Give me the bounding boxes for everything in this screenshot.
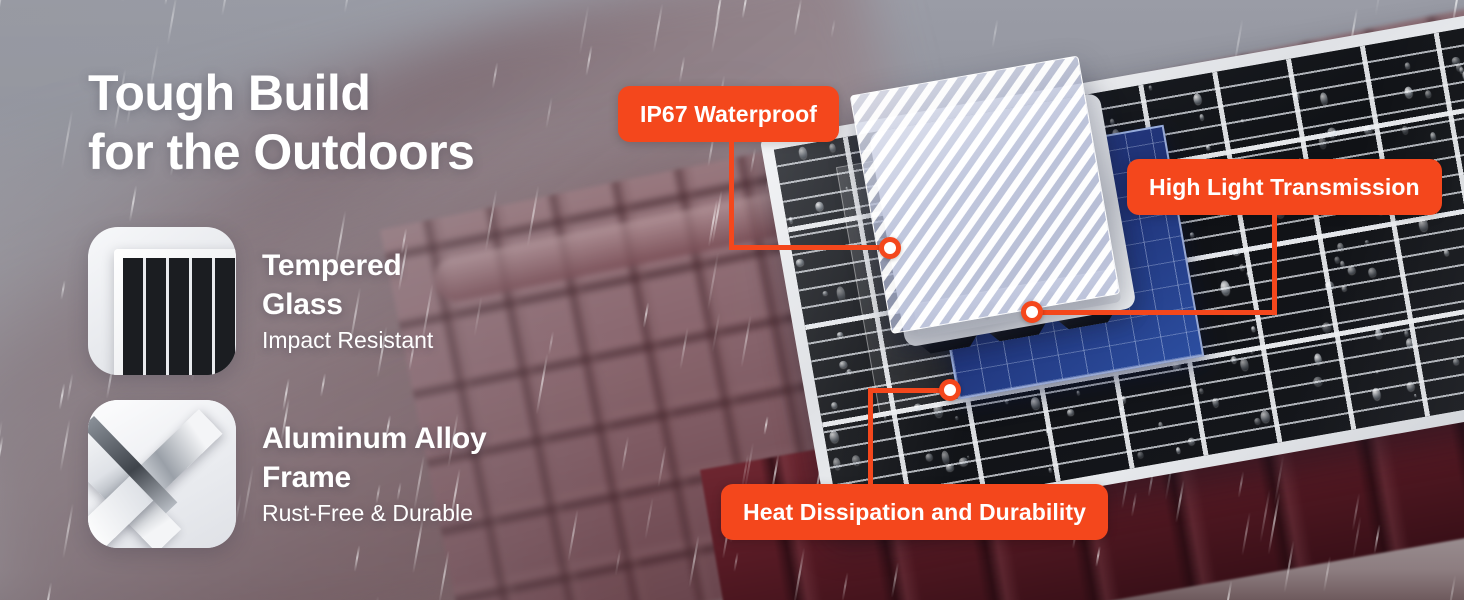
leader-line-heat-horizontal bbox=[868, 388, 950, 393]
callout-high-light-transmission[interactable]: High Light Transmission bbox=[1127, 159, 1442, 215]
feature-text-aluminum-frame: Aluminum Alloy Frame Rust-Free & Durable bbox=[262, 419, 486, 529]
feature-title-line-2: Glass bbox=[262, 285, 433, 324]
thumbnail-panel-cells bbox=[123, 258, 236, 375]
leader-line-ip67-vertical bbox=[729, 140, 734, 250]
headline-line-2: for the Outdoors bbox=[88, 123, 474, 182]
feature-text-tempered-glass: Tempered Glass Impact Resistant bbox=[262, 246, 433, 356]
callout-ip67-waterproof-label: IP67 Waterproof bbox=[640, 101, 817, 128]
feature-item-aluminum-frame: Aluminum Alloy Frame Rust-Free & Durable bbox=[88, 400, 486, 548]
headline-line-1: Tough Build bbox=[88, 64, 474, 123]
feature-item-tempered-glass: Tempered Glass Impact Resistant bbox=[88, 227, 433, 375]
leader-line-heat-vertical bbox=[868, 388, 873, 488]
aluminum-corner-bracket-thumbnail bbox=[88, 400, 236, 548]
banner-stage: IP67 Waterproof High Light Transmission … bbox=[0, 0, 1464, 600]
waterproof-marker[interactable] bbox=[879, 237, 901, 259]
page-title: Tough Build for the Outdoors bbox=[88, 64, 474, 182]
heat-dissipation-marker[interactable] bbox=[939, 379, 961, 401]
feature-title-line-1: Tempered bbox=[262, 246, 433, 285]
tempered-glass-sheen bbox=[851, 57, 1119, 333]
solar-panel-corner-thumbnail bbox=[88, 227, 236, 375]
feature-title-line-2: Frame bbox=[262, 458, 486, 497]
tempered-glass-layer bbox=[850, 55, 1120, 334]
thumbnail-panel-frame bbox=[114, 249, 236, 375]
feature-subtitle: Rust-Free & Durable bbox=[262, 499, 486, 529]
feature-subtitle: Impact Resistant bbox=[262, 326, 433, 356]
leader-line-ip67-horizontal bbox=[729, 245, 893, 250]
callout-heat-dissipation[interactable]: Heat Dissipation and Durability bbox=[721, 484, 1108, 540]
callout-ip67-waterproof[interactable]: IP67 Waterproof bbox=[618, 86, 839, 142]
leader-line-hlt-vertical bbox=[1272, 213, 1277, 315]
callout-heat-dissipation-label: Heat Dissipation and Durability bbox=[743, 499, 1086, 526]
feature-title-line-1: Aluminum Alloy bbox=[262, 419, 486, 458]
light-transmission-marker[interactable] bbox=[1021, 301, 1043, 323]
callout-high-light-transmission-label: High Light Transmission bbox=[1149, 174, 1420, 201]
thumbnail-aluminum-body bbox=[88, 400, 236, 548]
leader-line-hlt-horizontal bbox=[1032, 310, 1277, 315]
